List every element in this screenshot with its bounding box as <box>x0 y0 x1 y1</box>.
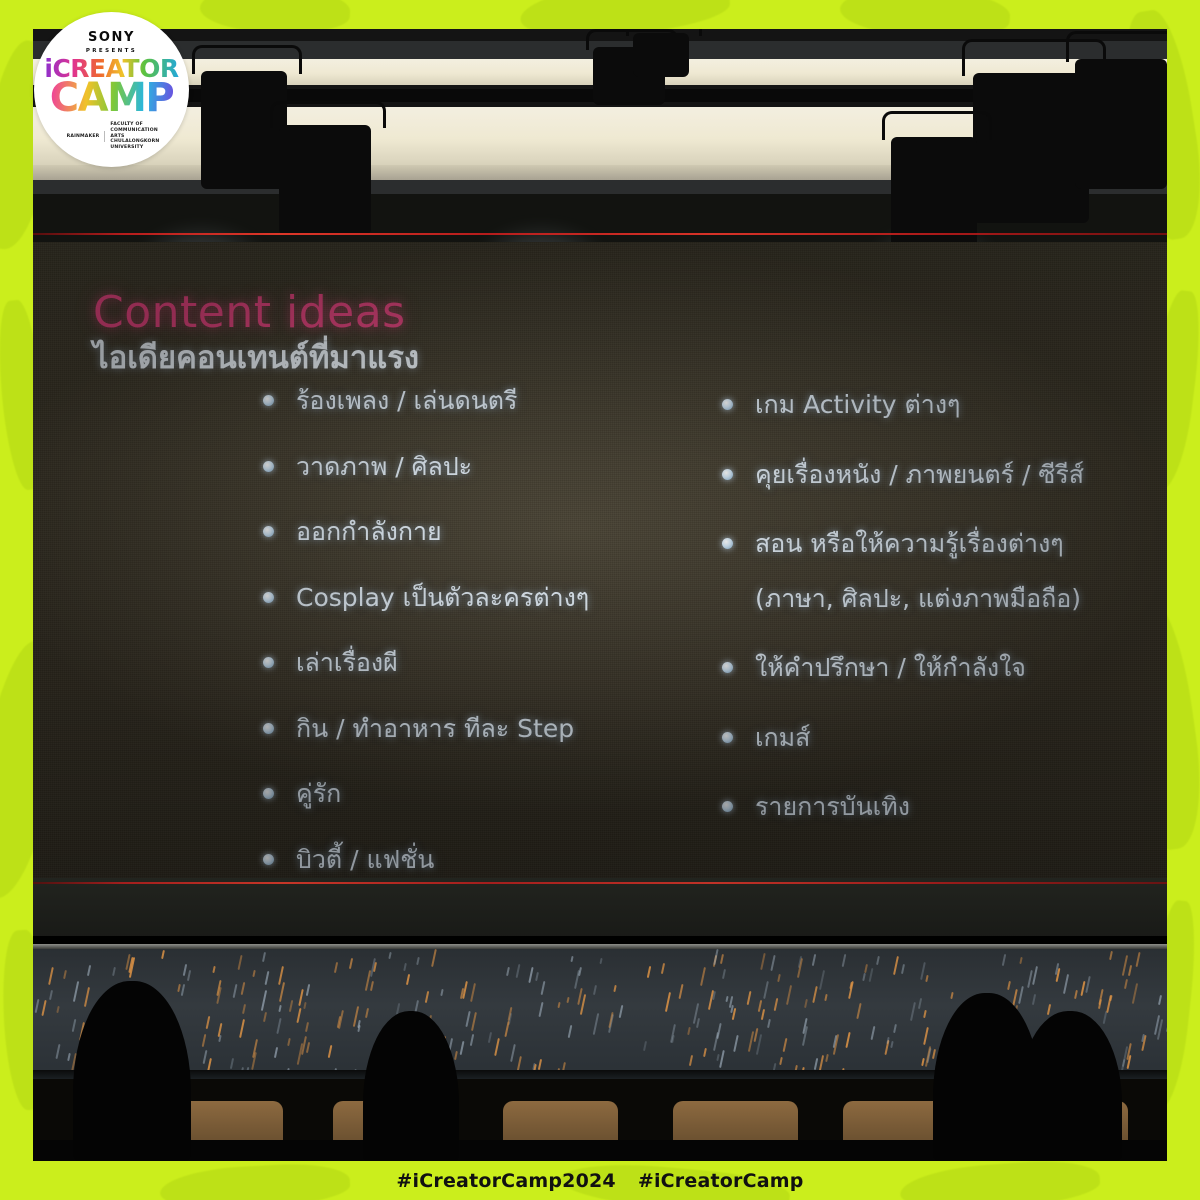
red-led-strip-lower <box>33 882 1167 884</box>
carpet-fleck <box>202 1050 207 1064</box>
carpet-fleck <box>306 1042 310 1053</box>
bullet-icon <box>263 657 274 668</box>
carpet-fleck <box>1074 989 1078 998</box>
stage-lamp <box>1075 59 1167 189</box>
carpet-fleck <box>112 966 116 975</box>
carpet-fleck <box>747 991 752 1006</box>
idea-list-item-label: เกมส์ <box>755 721 810 756</box>
idea-list-item-label: คุยเรื่องหนัง / ภาพยนตร์ / ซีรีส์ <box>755 458 1084 493</box>
carpet-fleck <box>212 966 215 974</box>
partner-divider <box>104 131 105 142</box>
idea-list-item: คุยเรื่องหนัง / ภาพยนตร์ / ซีรีส์ <box>722 458 1127 493</box>
carpet-fleck <box>700 967 706 986</box>
red-led-strip <box>33 233 1167 235</box>
camp-wordmark: CAMP <box>50 79 173 117</box>
carpet-fleck <box>263 1012 267 1022</box>
carpet-fleck <box>877 956 881 965</box>
carpet-fleck <box>42 1000 47 1016</box>
carpet-fleck <box>274 1047 278 1058</box>
idea-list-right: เกม Activity ต่างๆคุยเรื่องหนัง / ภาพยนต… <box>722 384 1127 908</box>
carpet-fleck <box>571 956 574 962</box>
idea-list-item-label: คู่รัก <box>296 777 341 812</box>
carpet-fleck <box>901 964 905 974</box>
lamp-yoke <box>192 45 302 74</box>
carpet-fleck <box>722 968 726 978</box>
carpet-fleck <box>388 952 391 959</box>
carpet-fleck <box>593 985 597 995</box>
slide-content: Content ideas ไอเดียคอนเทนต์ที่มาแรง ร้อ… <box>33 242 1167 878</box>
lamp-yoke <box>270 101 386 128</box>
carpet-fleck <box>661 962 665 973</box>
slide-title-thai: ไอเดียคอนเทนต์ที่มาแรง <box>93 340 1107 377</box>
carpet-fleck <box>1165 1022 1167 1033</box>
carpet-fleck <box>924 1027 930 1045</box>
carpet-fleck <box>470 983 476 1002</box>
bullet-icon <box>263 854 274 865</box>
carpet-fleck <box>783 1038 788 1052</box>
carpet-fleck <box>441 989 444 996</box>
carpet-fleck <box>688 1027 692 1035</box>
carpet-fleck <box>506 967 510 976</box>
carpet-fleck <box>1127 965 1131 976</box>
carpet-fleck <box>824 994 827 1001</box>
carpet-fleck <box>580 994 586 1015</box>
carpet-fleck <box>910 1002 916 1021</box>
carpet-fleck <box>726 996 729 1002</box>
idea-list-left: ร้องเพลง / เล่นดนตรีวาดภาพ / ศิลปะออกกำล… <box>263 384 668 908</box>
carpet-fleck <box>202 1034 207 1047</box>
carpet-fleck <box>239 1019 245 1038</box>
carpet-fleck <box>842 954 847 967</box>
bullet-icon <box>722 469 733 480</box>
carpet-fleck <box>488 1031 492 1042</box>
carpet-fleck <box>540 981 545 995</box>
carpet-fleck <box>265 971 270 985</box>
carpet-fleck <box>34 999 39 1014</box>
idea-list-item-sublabel: (ภาษา, ศิลปะ, แต่งภาพมือถือ) <box>755 582 1081 617</box>
carpet-fleck <box>56 1006 59 1013</box>
carpet-fleck <box>748 1031 754 1052</box>
carpet-fleck <box>334 961 338 972</box>
projection-screen: Content ideas ไอเดียคอนเทนต์ที่มาแรง ร้อ… <box>33 242 1167 878</box>
poster-frame: Content ideas ไอเดียคอนเทนต์ที่มาแรง ร้อ… <box>0 0 1200 1200</box>
carpet-fleck <box>161 950 165 959</box>
carpet-fleck <box>786 985 792 1005</box>
partner-university-logo: FACULTY OF COMMUNICATION ARTS CHULALONGK… <box>110 122 156 151</box>
idea-list-item: บิวตี้ / แฟชั่น <box>263 843 668 878</box>
carpet-fleck <box>181 984 185 996</box>
carpet-fleck <box>689 1055 693 1066</box>
carpet-fleck <box>425 991 429 1003</box>
stage-photo: Content ideas ไอเดียคอนเทนต์ที่มาแรง ร้อ… <box>33 29 1167 1161</box>
slide-columns: ร้องเพลง / เล่นดนตรีวาดภาพ / ศิลปะออกกำล… <box>263 384 1127 908</box>
carpet-fleck <box>279 982 285 1002</box>
bullet-icon <box>722 662 733 673</box>
stage-shadow-band <box>33 936 1167 944</box>
carpet-fleck <box>471 1012 477 1031</box>
carpet-fleck <box>1081 981 1086 996</box>
idea-list-item-label: วาดภาพ / ศิลปะ <box>296 450 472 485</box>
icreator-camp-logo: SONY PRESENTS iCREATOR CAMP RAINMAKER FA… <box>34 12 189 167</box>
carpet-fleck <box>529 967 534 983</box>
carpet-fleck <box>767 1019 771 1028</box>
carpet-fleck <box>538 1002 543 1017</box>
carpet-fleck <box>242 1004 246 1015</box>
lamp-yoke <box>1066 31 1167 62</box>
idea-list-item: ร้องเพลง / เล่นดนตรี <box>263 384 668 419</box>
carpet-fleck <box>510 1044 516 1062</box>
carpet-fleck <box>703 1048 707 1057</box>
carpet-fleck <box>1018 986 1024 1004</box>
carpet-fleck <box>262 952 266 962</box>
carpet-fleck <box>926 975 929 982</box>
idea-list-item-label: Cosplay เป็นตัวละครต่างๆ <box>296 581 589 616</box>
carpet-fleck <box>825 1054 829 1062</box>
carpet-fleck <box>773 998 778 1011</box>
stage-lamp <box>201 71 287 189</box>
stage-lower-area <box>33 878 1167 1161</box>
bullet-icon <box>263 461 274 472</box>
carpet-fleck <box>592 1013 598 1035</box>
carpet-fleck <box>814 1058 818 1070</box>
idea-list-item-label: บิวตี้ / แฟชั่น <box>296 843 434 878</box>
carpet-fleck <box>646 966 650 978</box>
carpet-fleck <box>864 963 868 973</box>
carpet-fleck <box>923 1010 927 1018</box>
bullet-icon <box>722 801 733 812</box>
hashtag-secondary: #iCreatorCamp <box>638 1170 804 1192</box>
carpet-fleck <box>289 1000 294 1013</box>
carpet-fleck <box>232 984 237 998</box>
carpet-fleck <box>1002 954 1006 966</box>
carpet-fleck <box>893 1024 897 1033</box>
bullet-icon <box>722 399 733 410</box>
idea-list-item-label: ร้องเพลง / เล่นดนตรี <box>296 384 517 419</box>
carpet-fleck <box>719 1050 725 1068</box>
idea-list-item-label: สอน หรือให้ความรู้เรื่องต่างๆ(ภาษา, ศิลป… <box>755 527 1081 616</box>
carpet-fleck <box>303 1002 306 1009</box>
idea-list-item: ออกกำลังกาย <box>263 515 668 550</box>
carpet-fleck <box>714 949 719 965</box>
bullet-icon <box>263 526 274 537</box>
carpet-fleck <box>1109 951 1113 960</box>
carpet-fleck <box>734 1035 739 1052</box>
carpet-fleck <box>805 999 809 1008</box>
stage-lamp <box>633 33 689 77</box>
carpet-fleck <box>756 1034 762 1055</box>
carpet-fleck <box>206 1016 211 1029</box>
carpet-fleck <box>567 1025 572 1038</box>
carpet-fleck <box>760 953 765 970</box>
carpet-fleck <box>1109 995 1112 1002</box>
carpet-fleck <box>1158 995 1162 1005</box>
carpet-fleck <box>505 1021 510 1037</box>
carpet-fleck <box>870 1026 875 1040</box>
carpet-fleck <box>1135 952 1140 968</box>
carpet-fleck <box>535 972 539 981</box>
idea-list-item-label: ออกกำลังกาย <box>296 515 442 550</box>
idea-list-item: Cosplay เป็นตัวละครต่างๆ <box>263 581 668 616</box>
idea-list-item-label: เล่าเรื่องผี <box>296 646 398 681</box>
carpet-fleck <box>857 1003 862 1019</box>
hashtag-primary: #iCreatorCamp2024 <box>396 1170 615 1192</box>
carpet-fleck <box>917 998 921 1010</box>
idea-list-item-label: เกม Activity ต่างๆ <box>755 388 960 423</box>
idea-list-item: คู่รัก <box>263 777 668 812</box>
carpet-fleck <box>925 1046 931 1067</box>
idea-list-item: กิน / ทำอาหาร ทีละ Step <box>263 712 668 747</box>
carpet-fleck <box>403 963 407 972</box>
carpet-fleck <box>288 1038 292 1046</box>
carpet-fleck <box>779 1057 783 1065</box>
partner-rainmaker-logo: RAINMAKER <box>67 134 100 140</box>
bullet-icon <box>263 592 274 603</box>
carpet-fleck <box>567 997 570 1003</box>
carpet-fleck <box>770 955 775 971</box>
carpet-fleck <box>277 1018 282 1034</box>
hashtag-bar: #iCreatorCamp2024 #iCreatorCamp <box>0 1161 1200 1200</box>
carpet-fleck <box>812 986 818 1003</box>
carpet-fleck <box>405 974 409 986</box>
carpet-fleck <box>665 992 671 1012</box>
carpet-fleck <box>1032 966 1038 985</box>
carpet-fleck <box>1086 976 1091 993</box>
carpet-fleck <box>1032 994 1036 1005</box>
carpet-fleck <box>370 981 374 991</box>
carpet-fleck <box>306 983 310 995</box>
carpet-fleck <box>720 954 724 964</box>
carpet-fleck <box>466 1011 471 1028</box>
idea-list-item: เกม Activity ต่างๆ <box>722 388 1127 423</box>
carpet-fleck <box>932 1049 936 1059</box>
idea-list-item: สอน หรือให้ความรู้เรื่องต่างๆ(ภาษา, ศิลป… <box>722 527 1127 616</box>
carpet-fleck <box>777 974 781 982</box>
idea-list-item: ให้คำปรึกษา / ให้กำลังใจ <box>722 651 1127 686</box>
carpet-fleck <box>84 987 90 1007</box>
carpet-fleck <box>950 992 953 999</box>
carpet-fleck <box>55 1044 60 1059</box>
carpet-fleck <box>86 965 90 977</box>
lamp-yoke <box>882 111 992 140</box>
bullet-icon <box>263 788 274 799</box>
carpet-fleck <box>431 949 437 967</box>
carpet-fleck <box>49 990 53 1000</box>
bullet-icon <box>722 538 733 549</box>
idea-list-item-label: รายการบันเทิง <box>755 790 910 825</box>
carpet-fleck <box>679 984 684 999</box>
carpet-fleck <box>1007 980 1011 989</box>
carpet-fleck <box>761 1009 765 1020</box>
idea-list-item: รายการบันเทิง <box>722 790 1127 825</box>
carpet-fleck <box>862 972 866 981</box>
partner-logos: RAINMAKER FACULTY OF COMMUNICATION ARTS … <box>67 122 157 151</box>
carpet-fleck <box>416 957 420 965</box>
carpet-fleck <box>63 970 67 979</box>
carpet-fleck <box>758 1000 762 1012</box>
carpet-fleck <box>305 1022 309 1032</box>
idea-list-item-label: ให้คำปรึกษา / ให้กำลังใจ <box>755 651 1026 686</box>
carpet-fleck <box>252 970 256 978</box>
idea-list-item: เล่าเรื่องผี <box>263 646 668 681</box>
carpet-fleck <box>261 990 267 1011</box>
stage-lamp <box>279 125 371 235</box>
carpet-fleck <box>1047 1004 1051 1015</box>
carpet-fleck <box>459 1041 464 1055</box>
carpet-fleck <box>230 1058 234 1069</box>
carpet-fleck <box>1019 956 1022 963</box>
idea-list-item-label: กิน / ทำอาหาร ทีละ Step <box>296 712 574 747</box>
carpet-fleck <box>558 1002 561 1009</box>
carpet-fleck <box>696 1018 700 1028</box>
carpet-fleck <box>574 970 580 989</box>
carpet-fleck <box>183 964 187 976</box>
bullet-icon <box>722 732 733 743</box>
carpet-fleck <box>349 957 353 968</box>
carpet-fleck <box>763 981 769 999</box>
carpet-fleck <box>613 985 616 993</box>
carpet-fleck <box>237 954 242 970</box>
carpet-fleck <box>538 1059 542 1070</box>
carpet-fleck <box>470 1034 474 1046</box>
carpet-fleck <box>716 1054 719 1061</box>
slide-title-english: Content ideas <box>93 290 1107 336</box>
carpet-fleck <box>819 970 825 990</box>
carpet-fleck <box>599 958 602 965</box>
carpet-fleck <box>1132 983 1138 1004</box>
carpet-fleck <box>1124 979 1128 989</box>
carpet-fleck <box>716 1023 721 1039</box>
carpet-fleck <box>186 970 190 981</box>
carpet-fleck <box>893 956 899 975</box>
bullet-icon <box>263 395 274 406</box>
carpet-fleck <box>454 1051 458 1060</box>
carpet-fleck <box>67 1053 71 1061</box>
sony-wordmark: SONY <box>88 30 135 45</box>
carpet-fleck <box>241 982 246 995</box>
carpet-fleck <box>48 967 54 985</box>
carpet-fleck <box>868 968 873 982</box>
stage-back-wall <box>33 878 1167 938</box>
bullet-icon <box>263 723 274 734</box>
carpet-fleck <box>1063 974 1069 994</box>
carpet-fleck <box>296 1008 301 1023</box>
carpet-fleck <box>618 1005 623 1018</box>
carpet-fleck <box>373 962 377 972</box>
carpet-fleck <box>278 1004 282 1012</box>
carpet-fleck <box>73 981 79 1002</box>
carpet-fleck <box>365 1008 369 1019</box>
carpet-fleck <box>494 1038 500 1056</box>
carpet-fleck <box>920 962 926 980</box>
carpet-fleck <box>891 1040 894 1047</box>
carpet-fleck <box>845 1032 850 1048</box>
carpet-fleck <box>811 954 815 966</box>
carpet-fleck <box>328 1045 333 1059</box>
idea-list-item: วาดภาพ / ศิลปะ <box>263 450 668 485</box>
carpet-fleck <box>516 964 521 978</box>
carpet-fleck <box>643 1041 647 1051</box>
idea-list-item: เกมส์ <box>722 721 1127 756</box>
carpet-fleck <box>71 1019 76 1032</box>
carpet-fleck <box>298 989 304 1006</box>
stage-lamp <box>973 73 1089 223</box>
